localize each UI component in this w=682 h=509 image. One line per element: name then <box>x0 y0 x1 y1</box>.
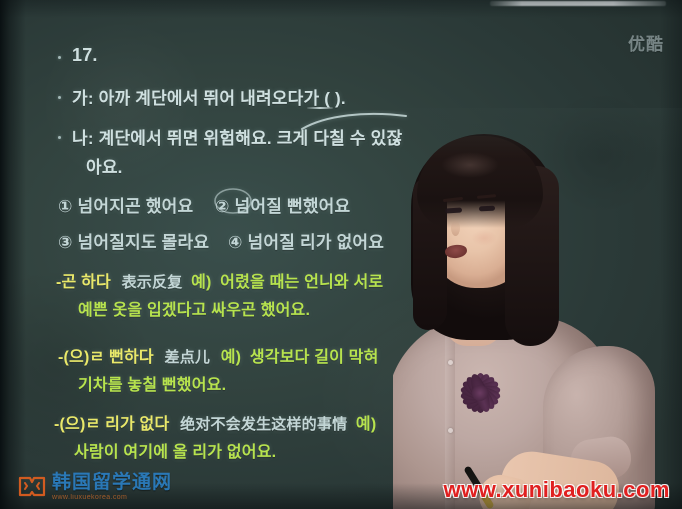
youku-watermark: 优酷 <box>628 30 664 55</box>
grammar-note-1-gloss: 表示反复 <box>122 274 183 291</box>
grammar-note-2-head: -(으)ㄹ 뻔하다 差点儿 예) 생각보다 길이 막혀 <box>58 343 379 367</box>
bullet-point <box>58 56 61 59</box>
grammar-note-2-example-label: 예) <box>221 349 241 366</box>
grammar-note-2-example-line2: 기차를 놓칠 뻔했어요. <box>78 371 226 395</box>
grammar-note-3-example-label: 예) <box>356 416 376 433</box>
eye-right <box>479 206 495 212</box>
flower-brooch <box>451 352 509 434</box>
grammar-note-2-pattern: -(으)ㄹ 뻔하다 <box>58 349 154 366</box>
cheek <box>471 230 497 246</box>
grammar-note-1-example-label: 예) <box>191 274 211 291</box>
site-logo-text-group: 韩国留学通网 www.liuxuekorea.com <box>52 473 172 501</box>
dialogue-line-b-cont: 아요. <box>86 153 123 178</box>
grammar-note-3-example-line2: 사람이 여기에 올 리가 없어요. <box>74 438 276 462</box>
video-frame: 17. 가: 아까 계단에서 뛰어 내려오다가 ( ). 나: 계단에서 뛰면 … <box>0 0 682 509</box>
choice-2-marker: ② <box>215 197 230 216</box>
choice-4-marker: ④ <box>228 233 243 252</box>
choice-3-text: 넘어질지도 몰라요 <box>78 233 210 252</box>
choice-1-marker: ① <box>58 197 73 216</box>
site-logo-name: 韩国留学通网 <box>52 473 172 492</box>
choice-3: ③ 넘어질지도 몰라요 <box>58 228 209 253</box>
grammar-note-2-example-line1: 생각보다 길이 막혀 <box>250 349 379 366</box>
grammar-note-3-pattern: -(으)ㄹ 리가 없다 <box>54 416 169 433</box>
bullet-point <box>58 136 61 139</box>
grammar-note-1-pattern: -곤 하다 <box>56 274 111 291</box>
video-url-watermark: www.xunibaoku.com <box>444 477 671 503</box>
bullet-point <box>58 96 61 99</box>
dialogue-line-b: 나: 계단에서 뛰면 위험해요. 크게 다칠 수 있잖 <box>72 124 402 149</box>
choice-4-text: 넘어질 리가 없어요 <box>248 233 385 252</box>
choice-2-text: 넘어질 뻔했어요 <box>235 197 351 216</box>
grammar-note-3-gloss: 绝对不会发生这样的事情 <box>180 416 347 433</box>
presenter-instructor <box>393 108 682 509</box>
question-number: 17. <box>72 45 98 66</box>
grammar-note-1-head: -곤 하다 表示反复 예) 어렸을 때는 언니와 서로 <box>56 268 383 292</box>
choice-3-marker: ③ <box>58 233 73 252</box>
choice-1: ① 넘어지곤 했어요 <box>58 192 193 217</box>
dialogue-line-a: 가: 아까 계단에서 뛰어 내려오다가 ( ). <box>72 84 346 109</box>
chalk-underline-1 <box>307 107 333 109</box>
choice-1-text: 넘어지곤 했어요 <box>78 197 194 216</box>
grammar-note-3-head: -(으)ㄹ 리가 없다 绝对不会发生这样的事情 예) <box>54 410 376 434</box>
grammar-note-1-example-line1: 어렸을 때는 언니와 서로 <box>220 274 383 291</box>
hair-highlight <box>441 152 499 178</box>
top-light-strip <box>490 1 666 6</box>
nose <box>451 220 460 236</box>
grammar-note-2-gloss: 差点儿 <box>165 349 211 366</box>
choice-2: ② 넘어질 뻔했어요 <box>215 192 350 217</box>
site-logo[interactable]: 韩国留学通网 www.liuxuekorea.com <box>18 473 172 501</box>
grammar-note-1-example-line2: 예쁜 옷을 입겠다고 싸우곤 했어요. <box>78 296 310 320</box>
choice-4: ④ 넘어질 리가 없어요 <box>228 228 384 253</box>
open-book-icon <box>18 475 46 499</box>
site-logo-url: www.liuxuekorea.com <box>52 494 172 501</box>
